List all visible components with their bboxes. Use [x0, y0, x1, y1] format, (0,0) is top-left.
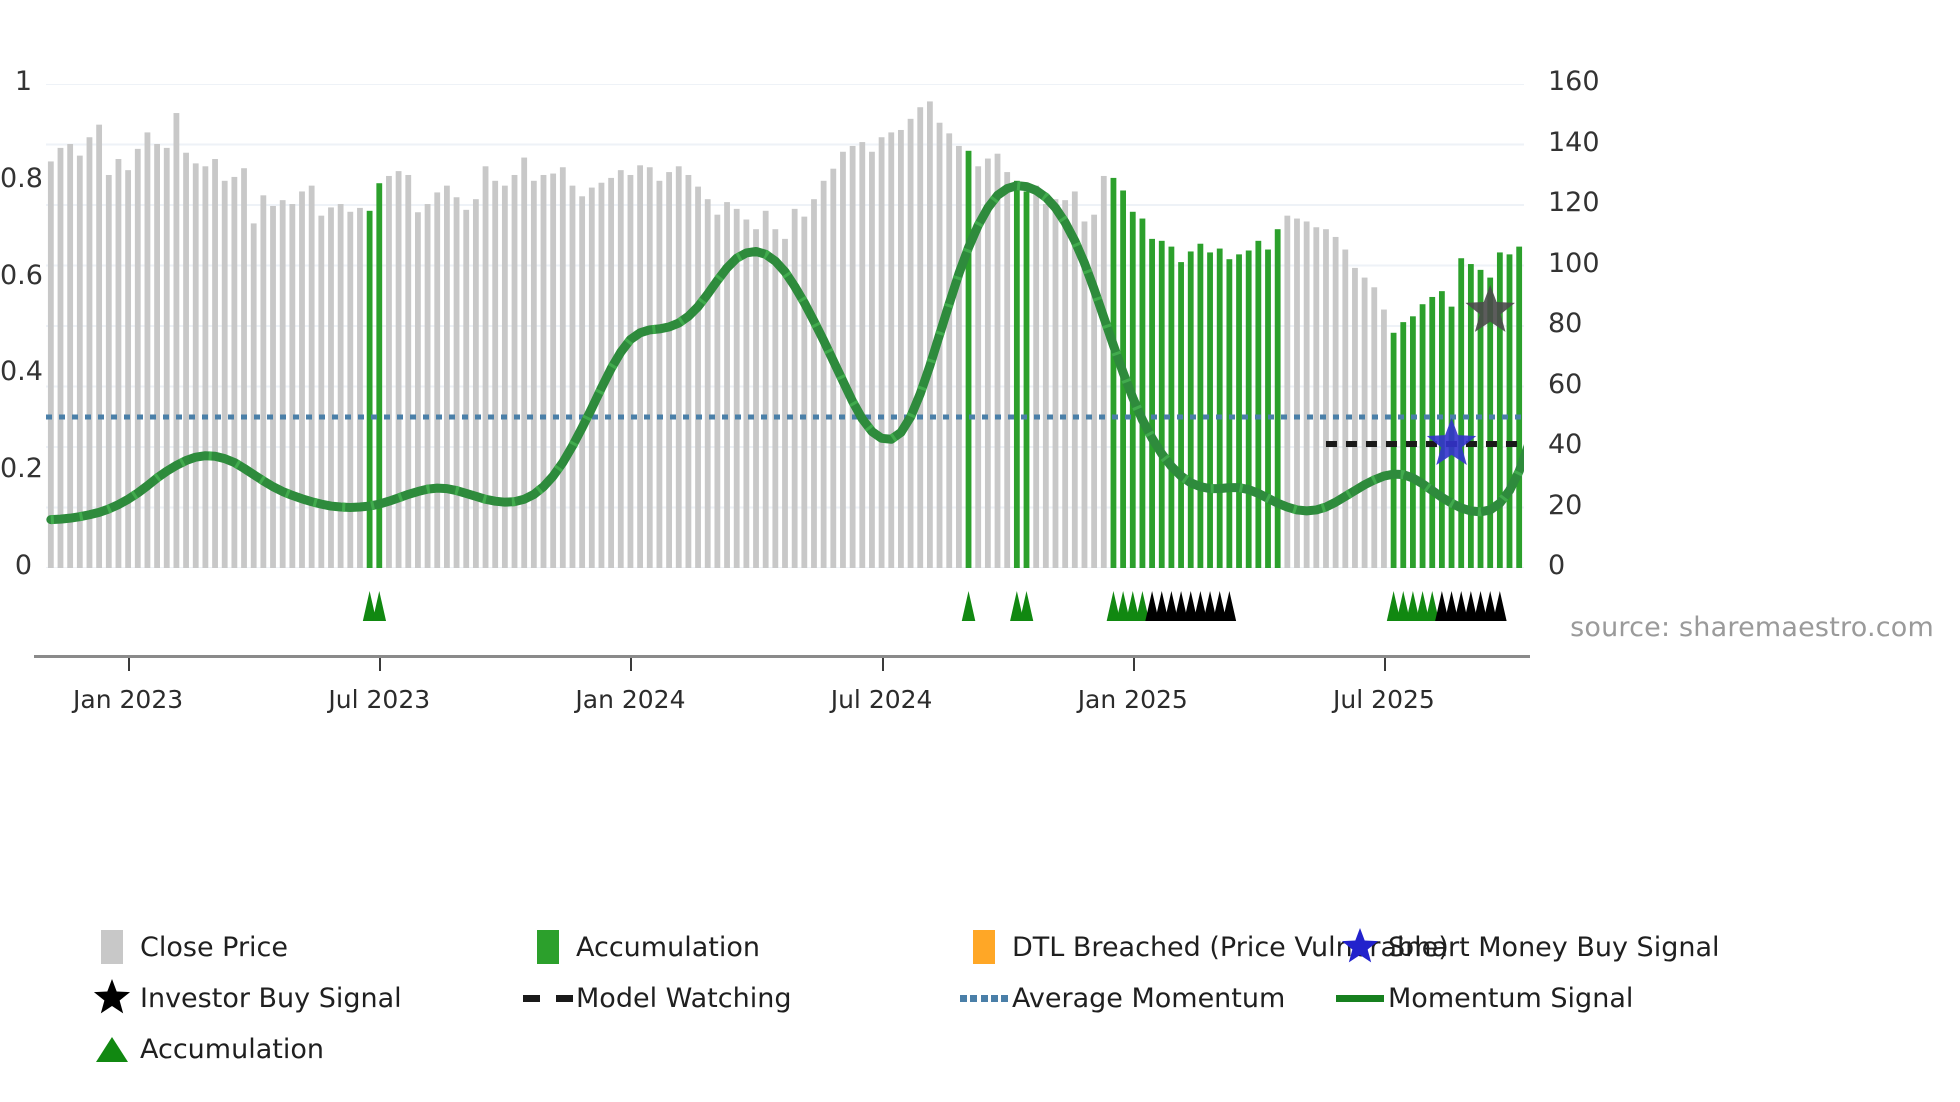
- accumulation-bar: [1391, 333, 1397, 568]
- legend-item-investor-buy-star-swatch[interactable]: Investor Buy Signal: [84, 978, 402, 1018]
- close-price-bar: [657, 181, 663, 568]
- close-price-bar: [357, 208, 363, 568]
- accumulation-bar: [1516, 247, 1522, 568]
- legend-item-average-momentum-dot-swatch[interactable]: Average Momentum: [956, 983, 1285, 1014]
- right-axis-tick-0: 160: [1548, 66, 1600, 97]
- close-price-bar: [695, 187, 701, 568]
- close-price-bar: [898, 130, 904, 568]
- close-price-bar: [386, 176, 392, 568]
- close-price-bar: [676, 166, 682, 568]
- close-price-bar: [396, 171, 402, 568]
- right-axis-tick-8: 0: [1548, 550, 1565, 581]
- accumulation-bar: [1275, 229, 1281, 568]
- close-price-bar: [811, 199, 817, 568]
- accumulation-bar: [1226, 259, 1232, 568]
- close-price-bar: [908, 119, 914, 568]
- close-price-bar: [241, 168, 247, 568]
- close-price-bar: [309, 186, 315, 568]
- x-tick-mark-5: [1384, 658, 1386, 671]
- accumulation-bar: [1400, 322, 1406, 568]
- close-price-bar: [1381, 310, 1387, 568]
- accumulation-bar: [1420, 304, 1426, 568]
- close-price-bar: [154, 144, 160, 568]
- close-price-bar: [550, 174, 556, 568]
- x-axis-tick-3: Jul 2024: [792, 685, 972, 714]
- close-price-bar: [801, 217, 807, 568]
- swatch-rect: [973, 930, 995, 964]
- close-price-bar: [917, 107, 923, 568]
- close-price-bar: [570, 186, 576, 568]
- legend-row-1: Investor Buy SignalModel WatchingAverage…: [84, 979, 1884, 1017]
- close-price-bar: [686, 175, 692, 568]
- close-price-bar: [1313, 227, 1319, 568]
- legend-label: Close Price: [140, 932, 288, 963]
- legend-label: Accumulation: [576, 932, 760, 963]
- accumulation-bar: [1246, 251, 1252, 569]
- close-price-bar: [270, 206, 276, 568]
- close-price-bar: [714, 215, 720, 568]
- close-price-bar: [328, 207, 334, 568]
- close-price-bar: [260, 195, 266, 568]
- legend-label: Smart Money Buy Signal: [1388, 932, 1720, 963]
- close-price-bar: [251, 223, 257, 568]
- close-price-bar: [1091, 215, 1097, 568]
- accumulation-triangles: [46, 575, 1524, 685]
- close-price-bar: [956, 146, 962, 568]
- close-price-bar: [628, 175, 634, 568]
- close-price-bar: [463, 210, 469, 568]
- close-price-bar: [473, 199, 479, 568]
- close-price-bar: [946, 133, 952, 568]
- close-price-bar: [1294, 219, 1300, 568]
- close-price-bar: [1333, 237, 1339, 568]
- accumulation-bar: [376, 183, 382, 568]
- right-axis-tick-6: 40: [1548, 429, 1582, 460]
- close-price-bar: [289, 204, 295, 568]
- plot-area: [46, 84, 1524, 568]
- legend-item-momentum-signal-line-swatch[interactable]: Momentum Signal: [1332, 983, 1633, 1014]
- close-price-bar: [280, 200, 286, 568]
- close-price-bar: [231, 177, 237, 568]
- close-price-bar: [202, 166, 208, 568]
- close-price-bar: [753, 229, 759, 568]
- close-price-bar: [666, 172, 672, 568]
- left-axis-tick-3: 0.4: [0, 356, 32, 387]
- accumulation-bar: [1159, 241, 1165, 568]
- close-price-bar: [772, 229, 778, 568]
- left-axis-tick-4: 0.2: [0, 453, 32, 484]
- close-price-bar: [444, 186, 450, 568]
- close-price-bar: [338, 204, 344, 568]
- chart-canvas: 10.80.60.40.20 160140120100806040200 Jan…: [0, 0, 1960, 1102]
- average-momentum-dot-swatch: [956, 995, 1012, 1002]
- accumulation-bar: [1140, 219, 1146, 568]
- accumulation-bar: [1149, 239, 1155, 568]
- accumulation-triangle-marker: [373, 591, 387, 621]
- close-price-bar: [125, 170, 131, 568]
- momentum-signal-line-swatch: [1332, 995, 1388, 1002]
- close-price-bar: [850, 146, 856, 568]
- swatch-line: [1336, 995, 1384, 1002]
- close-price-bar: [1342, 250, 1348, 568]
- swatch-rect: [101, 930, 123, 964]
- close-price-bar: [1033, 186, 1039, 568]
- legend-label: Accumulation: [140, 1034, 324, 1065]
- accumulation-marker-strip: [46, 575, 1524, 685]
- close-price-bar: [48, 161, 54, 568]
- legend-label: Average Momentum: [1012, 983, 1285, 1014]
- close-price-bar: [995, 154, 1001, 568]
- close-price-bar: [415, 212, 421, 568]
- x-tick-mark-1: [379, 658, 381, 671]
- swatch-dashed: [523, 995, 573, 1002]
- x-tick-mark-3: [882, 658, 884, 671]
- accumulation-bar: [1497, 252, 1503, 568]
- x-axis-tick-1: Jul 2023: [289, 685, 469, 714]
- close-price-bar: [782, 239, 788, 568]
- accumulation-bar: [1458, 258, 1464, 568]
- close-price-bar: [512, 175, 518, 568]
- close-price-bar: [405, 175, 411, 568]
- chart-legend: Close PriceAccumulationDTL Breached (Pri…: [84, 928, 1884, 1081]
- accumulation-bar: [1024, 191, 1030, 568]
- price-momentum-plot: [46, 84, 1524, 568]
- close-price-bar: [560, 167, 566, 568]
- smart-money-star-swatch: [1332, 927, 1388, 967]
- close-price-bar: [483, 166, 489, 568]
- close-price-bar: [724, 202, 730, 568]
- close-price-bar: [1284, 216, 1290, 568]
- close-price-bar: [492, 181, 498, 568]
- accumulation-triangle-marker: [1493, 591, 1507, 621]
- close-price-bar: [1371, 287, 1377, 568]
- close-price-bar: [145, 132, 151, 568]
- legend-item-model-watching-dash-swatch[interactable]: Model Watching: [520, 983, 791, 1014]
- close-price-bar: [1362, 278, 1368, 568]
- dtl-breached-swatch: [956, 930, 1012, 964]
- close-price-bar: [541, 175, 547, 568]
- left-axis-tick-5: 0: [0, 550, 32, 581]
- close-price-bar: [212, 159, 218, 568]
- close-price-bar: [67, 144, 73, 568]
- close-price-bar: [589, 188, 595, 568]
- close-price-bar: [637, 165, 643, 568]
- close-price-bar: [763, 211, 769, 568]
- close-price-bar: [859, 142, 865, 568]
- close-price-bar: [521, 158, 527, 568]
- source-note: source: sharemaestro.com: [1570, 612, 1934, 643]
- close-price-bar: [77, 156, 83, 568]
- accumulation-bar: [966, 151, 972, 568]
- left-axis-tick-0: 1: [0, 66, 32, 97]
- accumulation-bar: [1197, 244, 1203, 568]
- right-axis-tick-2: 120: [1548, 187, 1600, 218]
- x-axis-tick-4: Jan 2025: [1043, 685, 1223, 714]
- accumulation-bar: [1255, 241, 1261, 568]
- close-price-bar: [647, 167, 653, 568]
- close-price-bar: [821, 181, 827, 568]
- close-price-bar: [579, 196, 585, 568]
- investor-buy-star-swatch: [84, 978, 140, 1018]
- close-price-bar: [1304, 221, 1310, 568]
- close-price-bar: [1053, 199, 1059, 568]
- close-price-bar: [87, 137, 93, 568]
- legend-item-close-price-swatch[interactable]: Close Price: [84, 930, 288, 964]
- x-tick-mark-0: [128, 658, 130, 671]
- legend-item-accumulation-bar-swatch[interactable]: Accumulation: [520, 930, 760, 964]
- close-price-bar: [222, 181, 228, 568]
- close-price-bar: [705, 199, 711, 568]
- close-price-bar: [1101, 176, 1107, 568]
- close-price-bar: [1352, 268, 1358, 568]
- close-price-swatch: [84, 930, 140, 964]
- legend-label: Momentum Signal: [1388, 983, 1633, 1014]
- x-axis-spine: [34, 655, 1530, 658]
- close-price-bar: [454, 197, 460, 568]
- swatch-star: [92, 978, 132, 1018]
- accumulation-triangle-marker: [1020, 591, 1034, 621]
- accumulation-bar-swatch: [520, 930, 576, 964]
- close-price-bar: [743, 220, 749, 568]
- right-axis-tick-7: 20: [1548, 490, 1582, 521]
- accumulation-bar: [1236, 254, 1242, 568]
- close-price-bar: [347, 212, 353, 568]
- x-axis-tick-5: Jul 2025: [1294, 685, 1474, 714]
- close-price-bar: [502, 186, 508, 568]
- right-axis-tick-5: 60: [1548, 369, 1582, 400]
- accumulation-triangle-marker: [962, 591, 976, 621]
- accumulation-bar: [1429, 297, 1435, 568]
- accumulation-bar: [1217, 249, 1223, 568]
- close-price-bar: [1062, 200, 1068, 568]
- close-price-bar: [1043, 204, 1049, 568]
- right-axis-tick-4: 80: [1548, 308, 1582, 339]
- legend-label: Investor Buy Signal: [140, 983, 402, 1014]
- accumulation-bar: [367, 211, 373, 568]
- accumulation-bar: [1169, 247, 1175, 568]
- close-price-bar: [318, 216, 324, 568]
- right-axis-tick-3: 100: [1548, 248, 1600, 279]
- legend-label: Model Watching: [576, 983, 791, 1014]
- close-price-bar: [299, 191, 305, 568]
- close-price-bar: [531, 181, 537, 568]
- close-price-bar: [135, 149, 141, 568]
- close-price-bar: [840, 152, 846, 568]
- close-price-bar: [927, 101, 933, 568]
- accumulation-bar: [1439, 291, 1445, 568]
- legend-row-0: Close PriceAccumulationDTL Breached (Pri…: [84, 928, 1884, 966]
- close-price-bar: [1323, 229, 1329, 568]
- close-price-bar: [183, 153, 189, 568]
- swatch-rect: [537, 930, 559, 964]
- accumulation-bar: [1014, 181, 1020, 568]
- accumulation-triangle-marker: [1223, 591, 1237, 621]
- close-price-bar: [879, 137, 885, 568]
- accumulation-triangle-swatch: [84, 1032, 140, 1066]
- right-axis-tick-1: 140: [1548, 127, 1600, 158]
- accumulation-bar: [1507, 254, 1513, 568]
- close-price-bar: [1004, 172, 1010, 568]
- legend-item-smart-money-star-swatch[interactable]: Smart Money Buy Signal: [1332, 927, 1720, 967]
- x-axis-tick-0: Jan 2023: [38, 685, 218, 714]
- close-price-bar: [425, 204, 431, 568]
- swatch-star: [1340, 927, 1380, 967]
- accumulation-bar: [1265, 250, 1271, 568]
- legend-row-2: Accumulation: [84, 1030, 1884, 1068]
- close-price-bars: [48, 101, 1524, 568]
- x-tick-mark-2: [630, 658, 632, 671]
- left-axis-tick-2: 0.6: [0, 260, 32, 291]
- accumulation-bar: [1111, 178, 1117, 568]
- swatch-triangle: [92, 1032, 132, 1066]
- close-price-bar: [888, 132, 894, 568]
- model-watching-dash-swatch: [520, 995, 576, 1002]
- close-price-bar: [792, 209, 798, 568]
- close-price-bar: [164, 148, 170, 568]
- close-price-bar: [96, 125, 102, 568]
- close-price-bar: [193, 163, 199, 568]
- close-price-bar: [869, 152, 875, 568]
- accumulation-bar: [1188, 251, 1194, 568]
- close-price-bar: [174, 113, 180, 568]
- legend-item-accumulation-triangle-swatch[interactable]: Accumulation: [84, 1032, 324, 1066]
- x-tick-mark-4: [1133, 658, 1135, 671]
- close-price-bar: [58, 148, 64, 568]
- left-axis-tick-1: 0.8: [0, 163, 32, 194]
- swatch-dotted: [960, 995, 1008, 1002]
- close-price-bar: [434, 192, 440, 568]
- close-price-bar: [618, 170, 624, 568]
- x-axis-tick-2: Jan 2024: [540, 685, 720, 714]
- accumulation-bar: [1207, 252, 1213, 568]
